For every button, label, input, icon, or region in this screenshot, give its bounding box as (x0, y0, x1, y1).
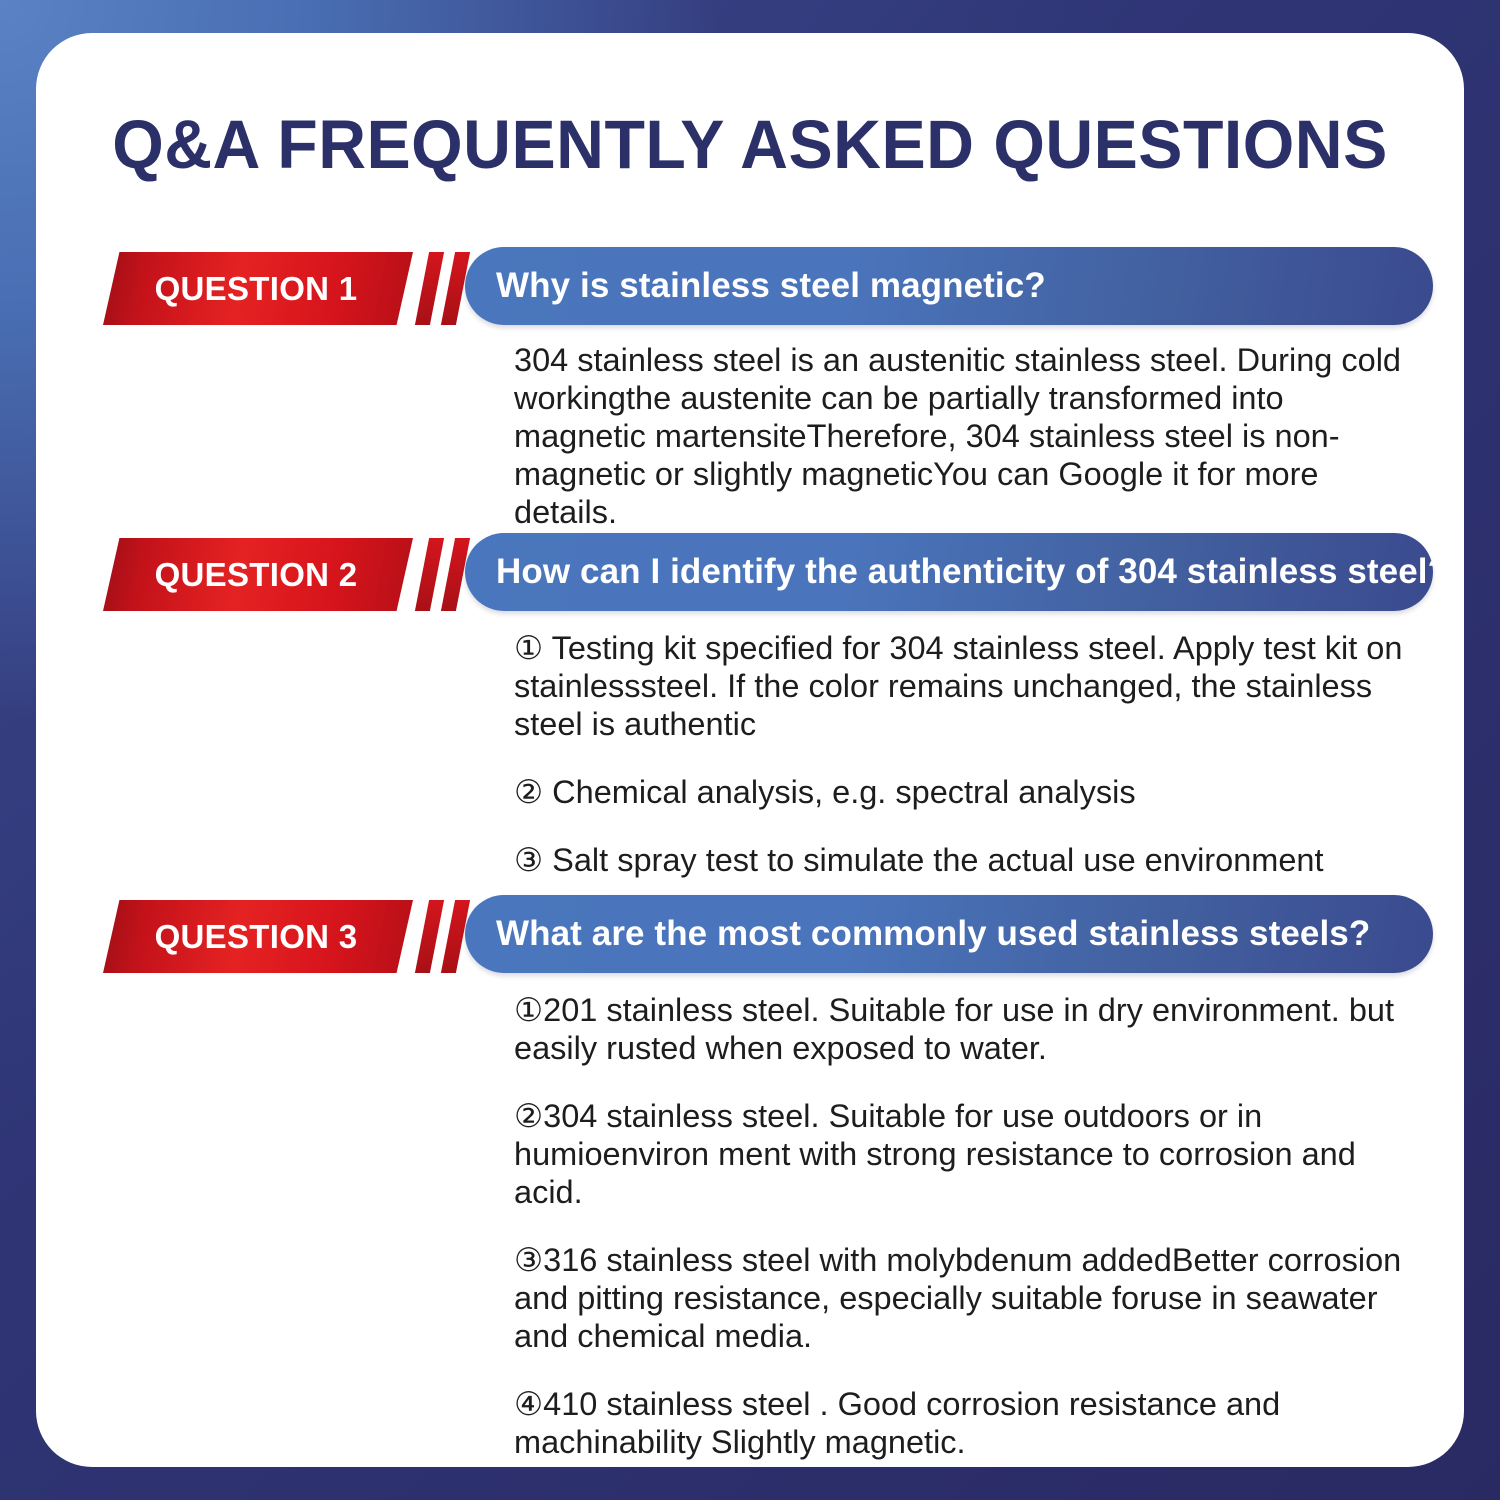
slash-separator-icon-1a (415, 252, 444, 325)
answer-paragraph: ④410 stainless steel . Good corrosion re… (514, 1385, 1416, 1461)
question-block-3: QUESTION 3 What are the most commonly us… (36, 895, 1464, 977)
question-pill-3: What are the most commonly used stainles… (465, 895, 1433, 973)
question-header-1: QUESTION 1 Why is stainless steel magnet… (36, 247, 1464, 329)
question-header-2: QUESTION 2 How can I identify the authen… (36, 533, 1464, 615)
question-pill-1: Why is stainless steel magnetic? (465, 247, 1433, 325)
answer-paragraph: ② Chemical analysis, e.g. spectral analy… (514, 773, 1416, 811)
slash-separator-icon-3a (415, 900, 444, 973)
answer-paragraph: ③ Salt spray test to simulate the actual… (514, 841, 1416, 879)
answer-body-3: ①201 stainless steel. Suitable for use i… (514, 991, 1416, 1467)
answer-paragraph: ③316 stainless steel with molybdenum add… (514, 1241, 1416, 1355)
question-tag-3: QUESTION 3 (103, 900, 413, 973)
question-block-2: QUESTION 2 How can I identify the authen… (36, 533, 1464, 615)
answer-paragraph: ①201 stainless steel. Suitable for use i… (514, 991, 1416, 1067)
question-text-1: Why is stainless steel magnetic? (496, 266, 1046, 306)
page-title: Q&A FREQUENTLY ASKED QUESTIONS (65, 105, 1436, 184)
question-tag-label-1: QUESTION 1 (155, 270, 358, 308)
question-tag-label-2: QUESTION 2 (155, 556, 358, 594)
question-text-2: How can I identify the authenticity of 3… (496, 552, 1449, 592)
question-block-1: QUESTION 1 Why is stainless steel magnet… (36, 247, 1464, 329)
faq-card: Q&A FREQUENTLY ASKED QUESTIONS QUESTION … (36, 33, 1464, 1467)
answer-paragraph: 304 stainless steel is an austenitic sta… (514, 341, 1416, 531)
slash-separator-icon-2a (415, 538, 444, 611)
question-tag-2: QUESTION 2 (103, 538, 413, 611)
question-text-3: What are the most commonly used stainles… (496, 914, 1370, 954)
answer-body-2: ① Testing kit specified for 304 stainles… (514, 629, 1416, 909)
answer-body-1: 304 stainless steel is an austenitic sta… (514, 341, 1416, 531)
answer-paragraph: ②304 stainless steel. Suitable for use o… (514, 1097, 1416, 1211)
question-header-3: QUESTION 3 What are the most commonly us… (36, 895, 1464, 977)
question-pill-2: How can I identify the authenticity of 3… (465, 533, 1433, 611)
answer-paragraph: ① Testing kit specified for 304 stainles… (514, 629, 1416, 743)
question-tag-1: QUESTION 1 (103, 252, 413, 325)
question-tag-label-3: QUESTION 3 (155, 918, 358, 956)
